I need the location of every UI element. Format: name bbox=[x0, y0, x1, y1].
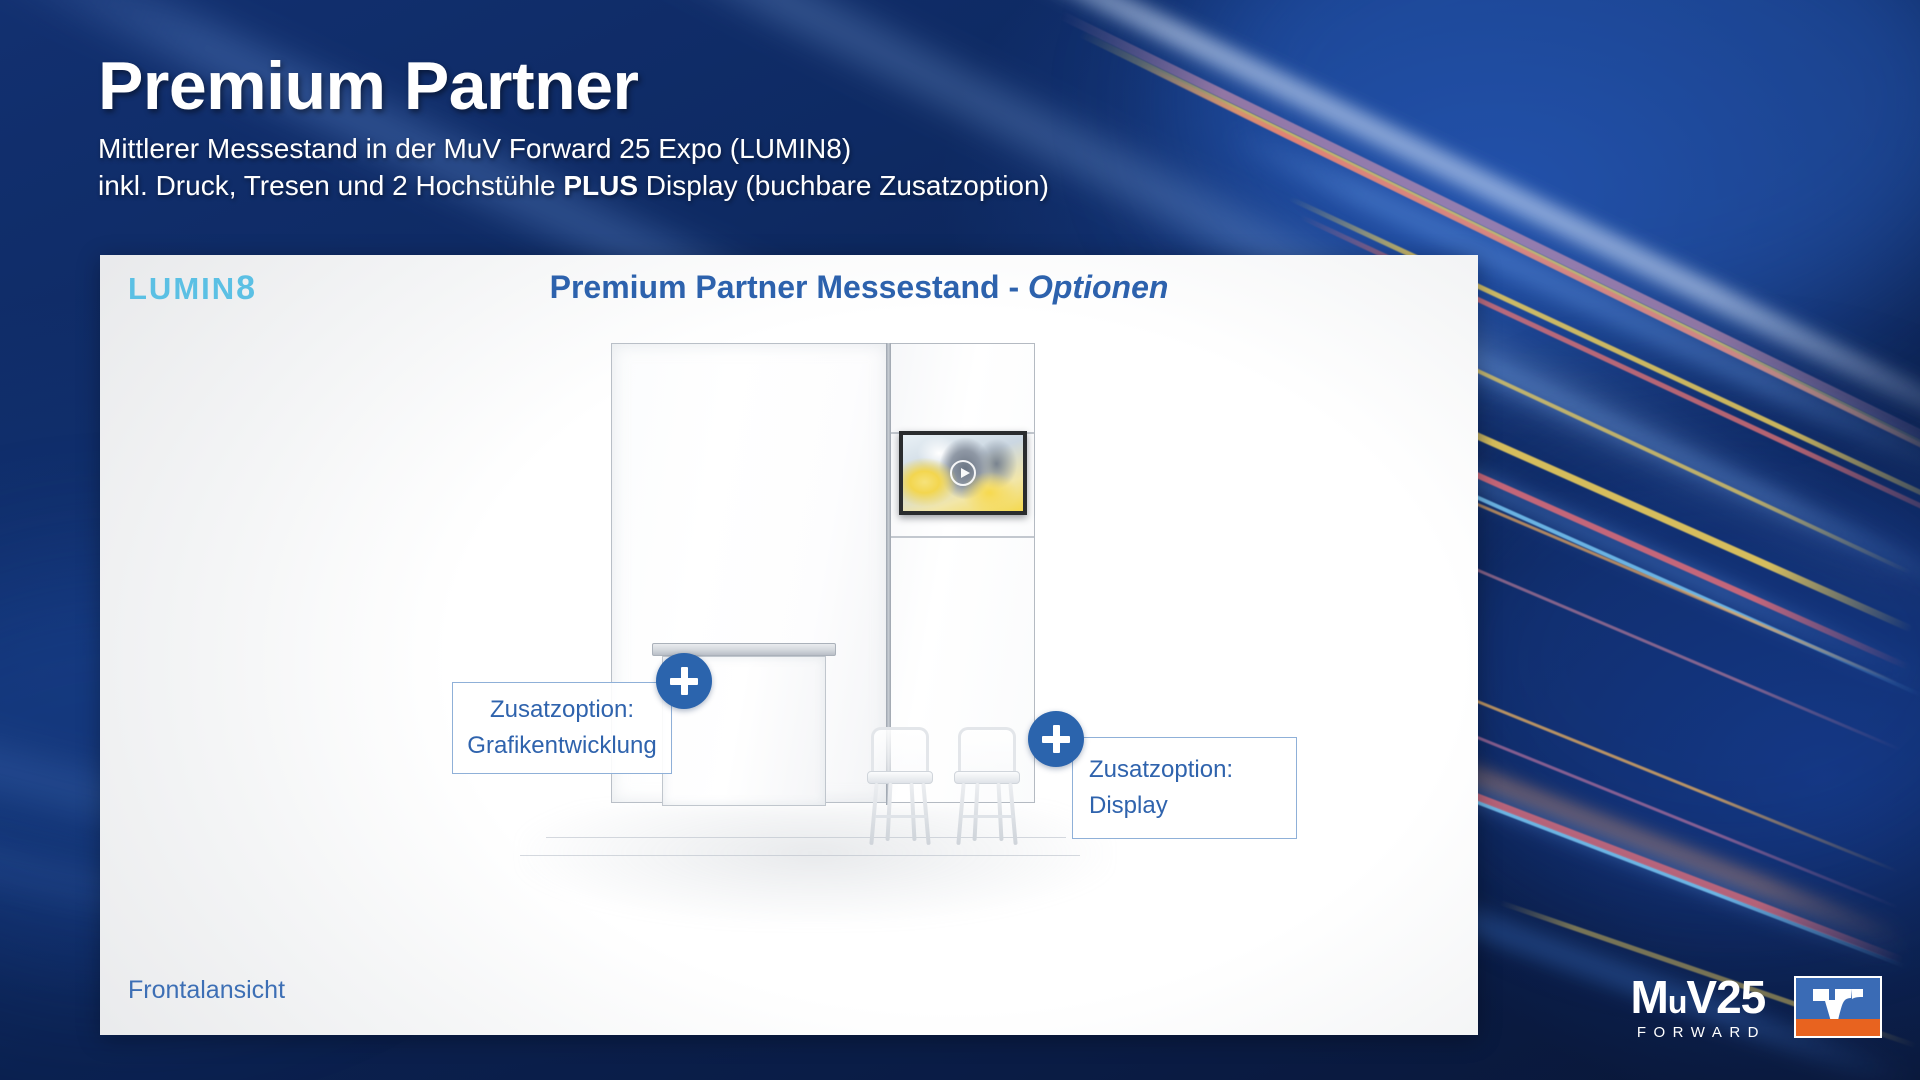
callout-grafikentwicklung-line-1: Zusatzoption: bbox=[463, 692, 661, 728]
subtitle-line-1: Mittlerer Messestand in der MuV Forward … bbox=[98, 131, 1278, 168]
bar-stool bbox=[867, 727, 933, 845]
bar-stool bbox=[954, 727, 1020, 845]
stool-seat bbox=[867, 771, 933, 784]
stool-leg bbox=[972, 783, 979, 841]
view-label: Frontalansicht bbox=[128, 976, 285, 1005]
slide-header: Premium Partner Mittlerer Messestand in … bbox=[98, 52, 1278, 205]
page-title: Premium Partner bbox=[98, 52, 1278, 121]
stool-leg bbox=[869, 783, 878, 845]
panel-title-main: Premium Partner Messestand - bbox=[550, 269, 1028, 305]
subtitle-line-2: inkl. Druck, Tresen und 2 Hochstühle PLU… bbox=[98, 168, 1278, 205]
muv25-subword: FORWARD bbox=[1630, 1025, 1766, 1040]
stool-footrail bbox=[875, 815, 927, 818]
stool-leg bbox=[996, 783, 1003, 841]
stool-backrest bbox=[871, 727, 929, 773]
stool-backrest bbox=[958, 727, 1016, 773]
callout-grafikentwicklung-line-2: Grafikentwicklung bbox=[463, 728, 661, 764]
booth-wall-seam-lower bbox=[890, 536, 1034, 538]
play-icon bbox=[950, 460, 976, 486]
panel-title-italic: Optionen bbox=[1028, 269, 1168, 305]
panel-title: Premium Partner Messestand - Optionen bbox=[100, 269, 1478, 306]
muv-letter-m: M bbox=[1631, 971, 1668, 1023]
stool-leg bbox=[885, 783, 892, 841]
brand-logo-group: MuV25 FORWARD bbox=[1630, 974, 1882, 1040]
callout-grafikentwicklung[interactable]: Zusatzoption: Grafikentwicklung bbox=[452, 682, 672, 774]
plus-icon[interactable] bbox=[1028, 711, 1084, 767]
subtitle-line-2-emphasis: PLUS bbox=[563, 170, 638, 201]
stool-leg bbox=[1008, 783, 1017, 845]
plus-icon[interactable] bbox=[656, 653, 712, 709]
muv-letter-u: u bbox=[1668, 984, 1687, 1020]
vr-orange-bar bbox=[1796, 1019, 1880, 1036]
stool-seat bbox=[954, 771, 1020, 784]
content-panel: LUMIN8 Premium Partner Messestand - Opti… bbox=[100, 255, 1478, 1035]
stool-leg bbox=[956, 783, 965, 845]
booth-floor-shadow bbox=[520, 805, 1110, 925]
stool-leg bbox=[921, 783, 930, 845]
muv25-wordmark: MuV25 bbox=[1631, 974, 1766, 1020]
callout-display[interactable]: Zusatzoption: Display bbox=[1072, 737, 1297, 839]
vr-volksbank-logo bbox=[1794, 976, 1882, 1038]
booth-floor-line-front bbox=[520, 855, 1080, 856]
muv-v25: V25 bbox=[1686, 971, 1765, 1023]
subtitle-line-2-post: Display (buchbare Zusatzoption) bbox=[638, 170, 1049, 201]
subtitle-line-2-pre: inkl. Druck, Tresen und 2 Hochstühle bbox=[98, 170, 563, 201]
slide-root: Premium Partner Mittlerer Messestand in … bbox=[0, 0, 1920, 1080]
callout-display-line-2: Display bbox=[1089, 788, 1280, 824]
muv25-forward-logo: MuV25 FORWARD bbox=[1630, 974, 1766, 1040]
stool-footrail bbox=[962, 815, 1014, 818]
background-glow-right bbox=[1420, 420, 1920, 900]
panel-inner: LUMIN8 Premium Partner Messestand - Opti… bbox=[100, 255, 1478, 1035]
callout-display-line-1: Zusatzoption: bbox=[1089, 752, 1280, 788]
stool-leg bbox=[909, 783, 916, 841]
booth-display-screen bbox=[899, 431, 1027, 515]
